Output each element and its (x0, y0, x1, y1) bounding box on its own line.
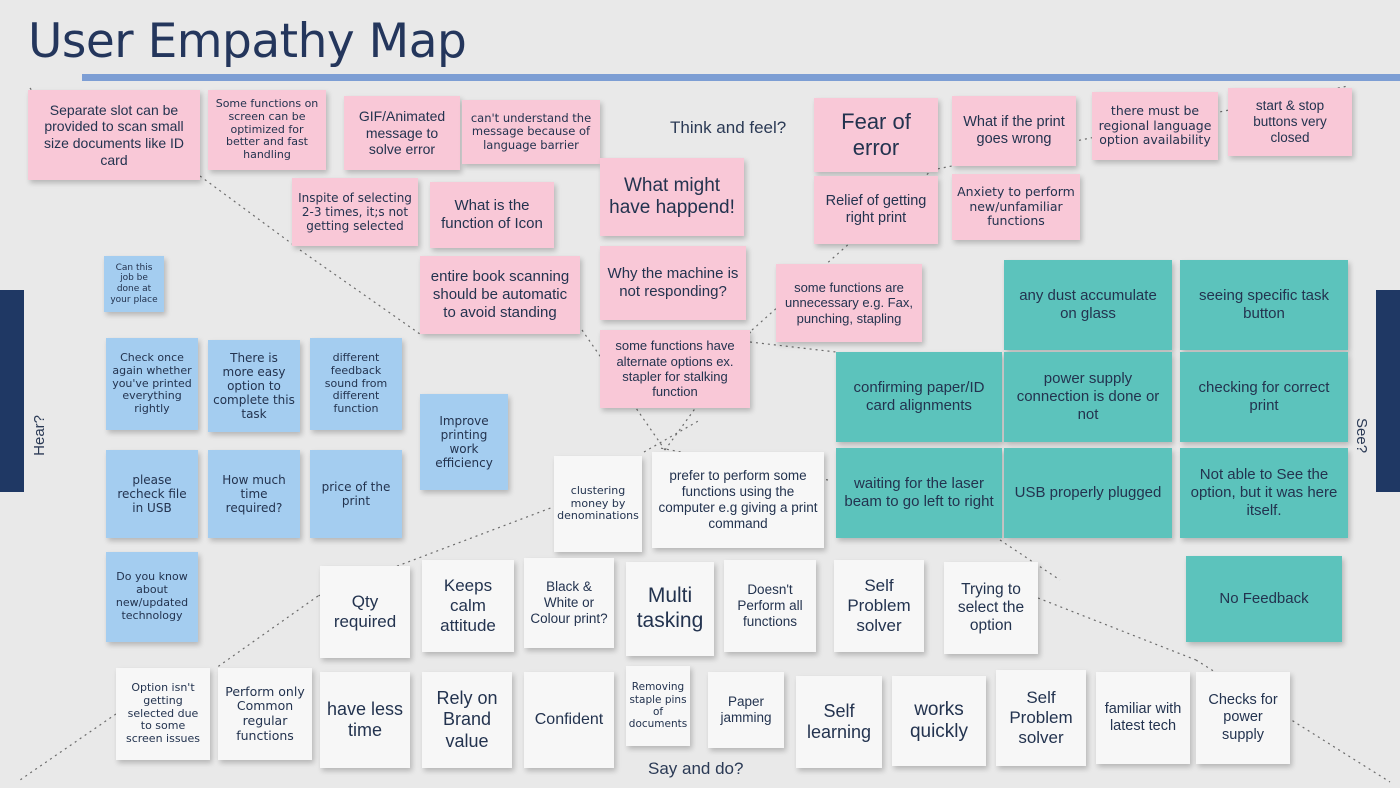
connector-line (1038, 598, 1196, 660)
sticky-note-text: What might have happend! (605, 175, 739, 220)
sticky-note-text: power supply connection is done or not (1009, 370, 1167, 423)
sticky-note[interactable]: Perform only Common regular functions (218, 668, 312, 760)
sticky-note[interactable]: Some functions on screen can be optimize… (208, 90, 326, 170)
sticky-note-text: Self learning (801, 701, 877, 743)
sticky-note[interactable]: Rely on Brand value (422, 672, 512, 768)
sticky-note[interactable]: Relief of getting right print (814, 176, 938, 244)
sticky-note[interactable]: Inspite of selecting 2-3 times, it;s not… (292, 178, 418, 246)
sticky-note-text: Multi tasking (631, 584, 709, 634)
connector-line (300, 250, 420, 334)
sticky-note-text: Do you know about new/updated technology (111, 571, 193, 623)
sticky-note[interactable]: have less time (320, 672, 410, 768)
sticky-note-text: please recheck file in USB (111, 473, 193, 515)
sticky-note-text: Why the machine is not responding? (605, 265, 741, 300)
sticky-note[interactable]: price of the print (310, 450, 402, 538)
sticky-note[interactable]: GIF/Animated message to solve error (344, 96, 460, 170)
quadrant-label-see: See? (1353, 418, 1370, 453)
sticky-note[interactable]: entire book scanning should be automatic… (420, 256, 580, 334)
sticky-note-text: Rely on Brand value (427, 688, 507, 752)
sticky-note-text: Paper jamming (713, 694, 779, 726)
sticky-note-text: some functions are unnecessary e.g. Fax,… (781, 280, 917, 326)
sticky-note-text: Inspite of selecting 2-3 times, it;s not… (297, 191, 413, 233)
sticky-note-text: GIF/Animated message to solve error (349, 108, 455, 158)
sticky-note-text: prefer to perform some functions using t… (657, 468, 819, 532)
sticky-note[interactable]: How much time required? (208, 450, 300, 538)
sticky-note-text: What if the print goes wrong (957, 114, 1071, 148)
sticky-note[interactable]: Separate slot can be provided to scan sm… (28, 90, 200, 180)
sticky-note[interactable]: some functions are unnecessary e.g. Fax,… (776, 264, 922, 342)
sticky-note-text: Self Problem solver (839, 576, 919, 636)
sticky-note[interactable]: Fear of error (814, 98, 938, 172)
sticky-note[interactable]: Doesn't Perform all functions (724, 560, 816, 652)
sticky-note-text: Doesn't Perform all functions (729, 582, 811, 630)
sticky-note-text: USB properly plugged (1015, 484, 1162, 502)
sticky-note[interactable]: Keeps calm attitude (422, 560, 514, 652)
title-underline-rule (82, 74, 1400, 81)
sticky-note-text: Option isn't getting selected due to som… (121, 682, 205, 747)
sticky-note[interactable]: start & stop buttons very closed (1228, 88, 1352, 156)
sticky-note-text: No Feedback (1219, 590, 1308, 608)
sticky-note-text: Perform only Common regular functions (223, 685, 307, 744)
sticky-note[interactable]: Option isn't getting selected due to som… (116, 668, 210, 760)
sticky-note[interactable]: Confident (524, 672, 614, 768)
sticky-note[interactable]: Not able to See the option, but it was h… (1180, 448, 1348, 538)
sticky-note[interactable]: prefer to perform some functions using t… (652, 452, 824, 548)
sticky-note-text: seeing specific task button (1185, 287, 1343, 322)
sticky-note-text: Checks for power supply (1201, 692, 1285, 743)
sticky-note-text: any dust accumulate on glass (1009, 287, 1167, 322)
sticky-note-text: What is the function of Icon (435, 197, 549, 232)
sticky-note[interactable]: What is the function of Icon (430, 182, 554, 248)
sticky-note[interactable]: Black & White or Colour print? (524, 558, 614, 648)
sticky-note-text: How much time required? (213, 473, 295, 515)
sticky-note-text: clustering money by denominations (557, 485, 639, 524)
sticky-note[interactable]: Do you know about new/updated technology (106, 552, 198, 642)
sticky-note-text: Self Problem solver (1001, 688, 1081, 748)
sticky-note-text: price of the print (315, 480, 397, 508)
sticky-note[interactable]: familiar with latest tech (1096, 672, 1190, 764)
sticky-note-text: Anxiety to perform new/unfamiliar functi… (957, 185, 1075, 229)
sticky-note-text: Black & White or Colour print? (529, 579, 609, 627)
sticky-note[interactable]: Checks for power supply (1196, 672, 1290, 764)
sticky-note-text: start & stop buttons very closed (1233, 98, 1347, 146)
connector-line (750, 342, 836, 352)
sticky-note[interactable]: Improve printing work efficiency (420, 394, 508, 490)
sticky-note-text: some functions have alternate options ex… (605, 338, 745, 399)
sticky-note-text: There is more easy option to complete th… (213, 351, 295, 422)
sticky-note[interactable]: Qty required (320, 566, 410, 658)
sticky-note[interactable]: Check once again whether you've printed … (106, 338, 198, 430)
sticky-note-text: have less time (325, 699, 405, 741)
sticky-note-text: Confident (535, 711, 604, 730)
sticky-note-text: can't understand the message because of … (467, 112, 595, 153)
sticky-note[interactable]: Removing staple pins of documents (626, 666, 690, 746)
sticky-note[interactable]: Paper jamming (708, 672, 784, 748)
sticky-note[interactable]: Self Problem solver (834, 560, 924, 652)
sticky-note[interactable]: different feedback sound from different … (310, 338, 402, 430)
sticky-note-text: confirming paper/ID card alignments (841, 379, 997, 414)
sticky-note-text: different feedback sound from different … (315, 352, 397, 417)
sticky-note-text: familiar with latest tech (1101, 701, 1185, 735)
sticky-note-text: Keeps calm attitude (427, 576, 509, 636)
connector-line (216, 596, 318, 668)
sticky-note[interactable]: Can this job be done at your place (104, 256, 164, 312)
quadrant-label-say-and-do: Say and do? (648, 759, 743, 779)
sticky-note-text: Relief of getting right print (819, 193, 933, 227)
sticky-note[interactable]: Multi tasking (626, 562, 714, 656)
sticky-note-text: Trying to select the option (949, 581, 1033, 636)
sticky-note-text: Not able to See the option, but it was h… (1185, 466, 1343, 519)
sticky-note-text: Can this job be done at your place (109, 263, 159, 305)
sticky-note-text: Fear of error (819, 109, 933, 161)
sticky-note-text: there must be regional language option a… (1097, 104, 1213, 148)
sticky-note-text: waiting for the laser beam to go left to… (841, 475, 997, 510)
sticky-note[interactable]: Anxiety to perform new/unfamiliar functi… (952, 174, 1080, 240)
sticky-note-text: Separate slot can be provided to scan sm… (33, 102, 195, 168)
sticky-note[interactable]: USB properly plugged (1004, 448, 1172, 538)
sticky-note[interactable]: There is more easy option to complete th… (208, 340, 300, 432)
sticky-note[interactable]: please recheck file in USB (106, 450, 198, 538)
sticky-note[interactable]: What might have happend! (600, 158, 744, 236)
connector-line (20, 714, 116, 780)
sticky-note[interactable]: some functions have alternate options ex… (600, 330, 750, 408)
sticky-note[interactable]: confirming paper/ID card alignments (836, 352, 1002, 442)
sticky-note[interactable]: What if the print goes wrong (952, 96, 1076, 166)
sticky-note[interactable]: there must be regional language option a… (1092, 92, 1218, 160)
sticky-note[interactable]: clustering money by denominations (554, 456, 642, 552)
sticky-note[interactable]: works quickly (892, 676, 986, 766)
sticky-note[interactable]: Self Problem solver (996, 670, 1086, 766)
sticky-note[interactable]: waiting for the laser beam to go left to… (836, 448, 1002, 538)
sticky-note[interactable]: checking for correct print (1180, 352, 1348, 442)
sticky-note[interactable]: Why the machine is not responding? (600, 246, 746, 320)
sticky-note-text: Removing staple pins of documents (629, 681, 687, 731)
sticky-note-text: Qty required (325, 592, 405, 632)
sticky-note[interactable]: No Feedback (1186, 556, 1342, 642)
left-accent-bar (0, 290, 24, 492)
connector-line (644, 420, 700, 452)
sticky-note-text: Check once again whether you've printed … (111, 352, 193, 417)
quadrant-label-hear: Hear? (31, 415, 48, 456)
right-accent-bar (1376, 290, 1400, 492)
page-title: User Empathy Map (28, 14, 466, 69)
sticky-note-text: Improve printing work efficiency (425, 414, 503, 471)
sticky-note[interactable]: power supply connection is done or not (1004, 352, 1172, 442)
sticky-note[interactable]: Trying to select the option (944, 562, 1038, 654)
sticky-note[interactable]: any dust accumulate on glass (1004, 260, 1172, 350)
sticky-note-text: checking for correct print (1185, 379, 1343, 414)
sticky-note-text: entire book scanning should be automatic… (425, 268, 575, 321)
sticky-note[interactable]: seeing specific task button (1180, 260, 1348, 350)
sticky-note-text: Some functions on screen can be optimize… (213, 98, 321, 163)
sticky-note[interactable]: can't understand the message because of … (462, 100, 600, 164)
sticky-note-text: works quickly (897, 699, 981, 744)
empathy-map-board: User Empathy Map Hear? See? Think and fe… (0, 0, 1400, 788)
quadrant-label-think-and-feel: Think and feel? (670, 118, 786, 138)
sticky-note[interactable]: Self learning (796, 676, 882, 768)
connector-line (200, 176, 295, 246)
